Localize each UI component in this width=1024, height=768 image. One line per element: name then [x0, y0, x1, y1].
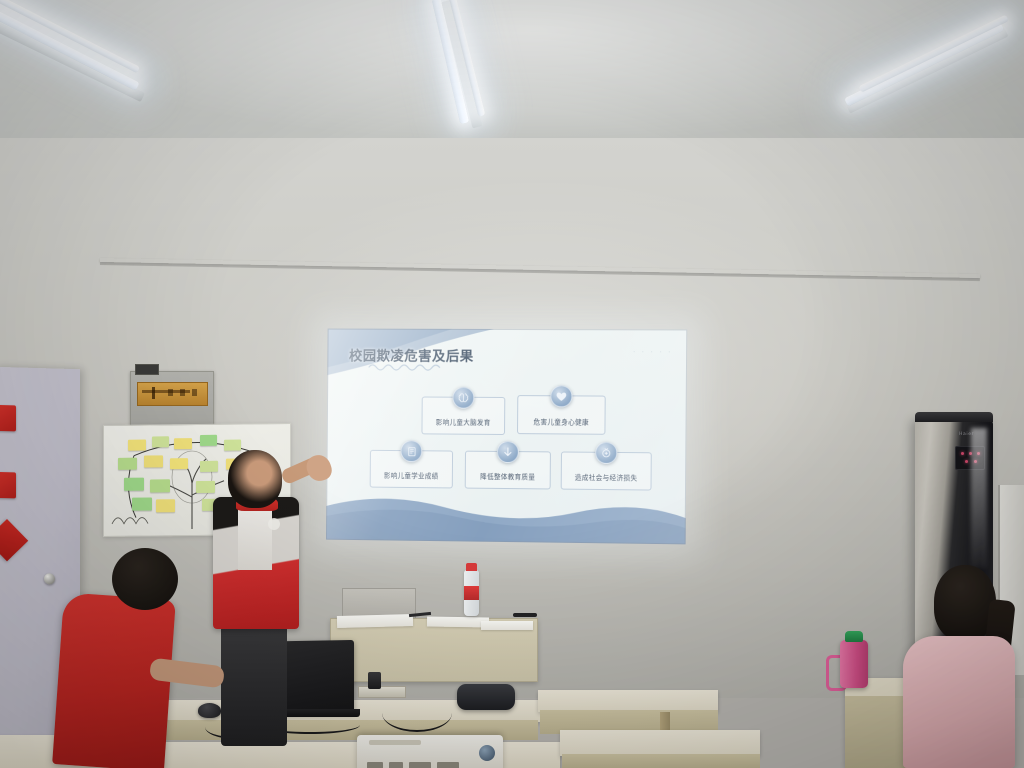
ac-indicator-dot	[961, 452, 964, 455]
ceiling-light-glow	[0, 0, 1024, 150]
projector-vent	[369, 740, 421, 745]
bottle-cap-icon	[845, 631, 863, 642]
podium-papers	[427, 616, 489, 627]
sticky-note	[224, 440, 241, 451]
slide-border	[326, 329, 687, 545]
student-pink-body	[903, 636, 1015, 768]
sticky-note	[128, 440, 146, 451]
volunteer-logo-icon	[268, 518, 280, 530]
door-sticker-2	[0, 472, 16, 499]
presenter-vest-white-panel	[238, 508, 272, 570]
pink-water-bottle[interactable]	[840, 640, 868, 688]
sticky-note	[174, 438, 192, 449]
electrical-panel	[130, 371, 214, 426]
door-fu-diamond	[0, 519, 28, 561]
bottle-cap-icon	[466, 563, 477, 571]
sticky-note	[152, 436, 169, 447]
sticky-note	[170, 458, 188, 469]
sticky-note	[150, 479, 170, 492]
desk-water-bottle[interactable]	[464, 570, 479, 616]
computer-mouse[interactable]	[198, 703, 221, 718]
desktop-projector[interactable]	[357, 735, 503, 768]
desk-surface	[538, 690, 718, 712]
ac-indicator-dot	[965, 460, 968, 463]
student-red-head	[112, 548, 178, 610]
projected-slide: 校园欺凌危害及后果 · · · · · 影响儿童大脑发育 危害儿童身心健康	[326, 329, 687, 545]
presenter-legs	[221, 624, 287, 746]
door-knob-icon[interactable]	[44, 573, 55, 584]
sticky-note	[132, 497, 152, 510]
ac-top-cap	[915, 412, 993, 422]
sticky-note	[156, 499, 175, 512]
ac-light-reflection	[971, 428, 987, 568]
presenter-head	[228, 450, 282, 508]
sticky-note	[118, 458, 137, 470]
panel-face	[137, 382, 208, 406]
panel-label-tag	[135, 364, 159, 375]
door-sticker-1	[0, 405, 16, 432]
teacher-podium	[330, 618, 538, 682]
projector-port	[409, 762, 431, 768]
podium-papers	[337, 614, 413, 628]
projector-port	[389, 762, 403, 768]
desk-front-panel	[562, 754, 760, 768]
power-cable	[382, 694, 452, 732]
podium-papers	[481, 621, 533, 630]
classroom-scene: 校园欺凌危害及后果 · · · · · 影响儿童大脑发育 危害儿童身心健康	[0, 0, 1024, 768]
projector-port	[367, 762, 383, 768]
sticky-note	[200, 461, 218, 472]
desk-surface	[560, 730, 760, 756]
equipment-case[interactable]	[457, 684, 515, 710]
projector-port	[437, 762, 459, 768]
sticky-note	[200, 435, 217, 446]
sticky-note	[196, 481, 215, 493]
power-plug-icon	[368, 672, 381, 689]
bottle-label	[464, 586, 479, 600]
sticky-note	[144, 455, 163, 467]
sticky-note	[124, 478, 144, 491]
projector-lens-icon	[479, 745, 495, 761]
podium-remote	[513, 613, 537, 617]
